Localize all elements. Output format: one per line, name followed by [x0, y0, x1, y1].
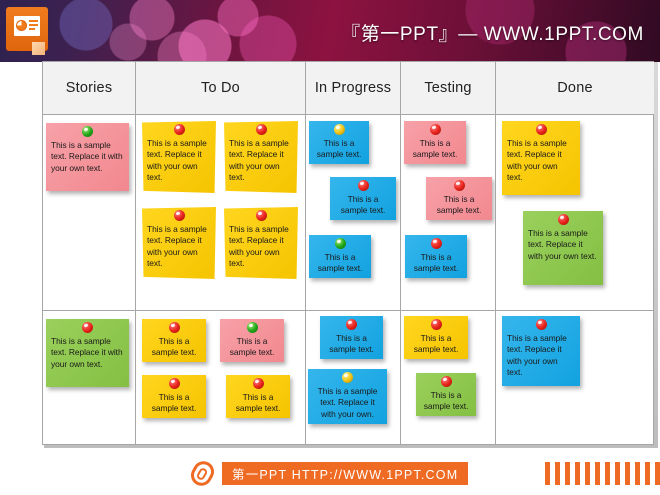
slide-canvas: 『第一PPT』— WWW.1PPT.COM Stories To Do In P… [0, 0, 660, 495]
pushpin-icon [335, 238, 346, 249]
sticky-note[interactable]: This is a sample text. [416, 373, 476, 416]
sticky-note[interactable]: This is a sample text. [142, 319, 206, 362]
sticky-note-text: This is a sample text. [335, 194, 391, 217]
sticky-note[interactable]: This is a sample text. [404, 316, 468, 359]
sticky-note-text: This is a sample text. [225, 336, 279, 359]
sticky-note-text: This is a sample text. [147, 336, 201, 359]
sticky-note-text: This is a sample text. [314, 138, 364, 161]
sticky-note-text: This is a sample text. [314, 252, 366, 275]
pushpin-icon [431, 319, 442, 330]
sticky-note-text: This is a sample text. Replace it with y… [51, 140, 124, 174]
sticky-note-text: This is a sample text. Replace it with y… [147, 138, 211, 184]
column-header-in-progress[interactable]: In Progress [306, 62, 401, 115]
sticky-note-text: This is a sample text. [410, 252, 462, 275]
cell-stories-row1: This is a sample text. Replace it with y… [43, 115, 136, 310]
cell-todo-row2: This is a sample text.This is a sample t… [136, 311, 306, 444]
sticky-note-text: This is a sample text. Replace it with y… [507, 333, 575, 379]
sticky-note[interactable]: This is a sample text. [404, 121, 466, 164]
paperclip-icon [190, 460, 218, 487]
sticky-note-text: This is a sample text. Replace it with y… [229, 224, 293, 270]
cell-stories-row2: This is a sample text. Replace it with y… [43, 311, 136, 444]
cell-testing-row1: This is a sample text.This is a sample t… [401, 115, 496, 310]
pushpin-icon [558, 214, 569, 225]
cell-in-progress-row1: This is a sample text.This is a sample t… [306, 115, 401, 310]
sticky-note[interactable]: This is a sample text. Replace it with y… [502, 121, 580, 195]
sticky-note-text: This is a sample text. [409, 138, 461, 161]
cell-done-row2: This is a sample text. Replace it with y… [496, 311, 654, 444]
sticky-note-text: This is a sample text. Replace it with y… [507, 138, 575, 184]
pushpin-icon [174, 210, 185, 221]
pushpin-icon [174, 124, 185, 135]
cell-testing-row2: This is a sample text.This is a sample t… [401, 311, 496, 444]
board-row: This is a sample text. Replace it with y… [43, 115, 653, 311]
sticky-note-text: This is a sample text. Replace it with y… [313, 386, 382, 420]
sticky-note[interactable]: This is a sample text. [309, 121, 369, 164]
pushpin-icon [536, 319, 547, 330]
sticky-note-text: This is a sample text. Replace it with y… [147, 224, 211, 270]
sticky-note[interactable]: This is a sample text. [405, 235, 467, 278]
sticky-note[interactable]: This is a sample text. [330, 177, 396, 220]
column-header-to-do[interactable]: To Do [136, 62, 306, 115]
column-header-stories[interactable]: Stories [43, 62, 136, 115]
sticky-note[interactable]: This is a sample text. Replace it with y… [46, 123, 129, 191]
sticky-note-text: This is a sample text. Replace it with y… [229, 138, 293, 184]
sticky-note[interactable]: This is a sample text. [142, 375, 206, 418]
kanban-board: Stories To Do In Progress Testing Done T… [42, 61, 654, 445]
sticky-note-text: This is a sample text. Replace it with y… [528, 228, 598, 262]
pushpin-icon [256, 124, 267, 135]
pushpin-icon [253, 378, 264, 389]
pushpin-icon [441, 376, 452, 387]
sticky-note[interactable]: This is a sample text. Replace it with y… [224, 207, 298, 279]
pushpin-icon [256, 210, 267, 221]
pushpin-icon [431, 238, 442, 249]
footer-url-label[interactable]: 第一PPT HTTP://WWW.1PPT.COM [222, 462, 468, 485]
top-banner: 『第一PPT』— WWW.1PPT.COM [0, 0, 660, 62]
pushpin-icon [358, 180, 369, 191]
sticky-note[interactable]: This is a sample text. Replace it with y… [142, 121, 216, 193]
sticky-note[interactable]: This is a sample text. [220, 319, 284, 362]
banner-title: 『第一PPT』— WWW.1PPT.COM [341, 19, 644, 46]
column-header-done[interactable]: Done [496, 62, 654, 115]
sticky-note[interactable]: This is a sample text. Replace it with y… [46, 319, 129, 387]
column-header-testing[interactable]: Testing [401, 62, 496, 115]
cell-done-row1: This is a sample text. Replace it with y… [496, 115, 654, 310]
sticky-note-text: This is a sample text. [325, 333, 378, 356]
pushpin-icon [247, 322, 258, 333]
pushpin-icon [346, 319, 357, 330]
pushpin-icon [454, 180, 465, 191]
sticky-note[interactable]: This is a sample text. [226, 375, 290, 418]
sticky-note[interactable]: This is a sample text. Replace it with y… [523, 211, 603, 285]
cell-todo-row1: This is a sample text. Replace it with y… [136, 115, 306, 310]
board-row: This is a sample text. Replace it with y… [43, 311, 653, 444]
pushpin-icon [169, 378, 180, 389]
sticky-note[interactable]: This is a sample text. [320, 316, 383, 359]
sticky-note-text: This is a sample text. [431, 194, 487, 217]
sticky-note-text: This is a sample text. [409, 333, 463, 356]
pushpin-icon [82, 126, 93, 137]
board-header-row: Stories To Do In Progress Testing Done [43, 62, 653, 115]
pushpin-icon [430, 124, 441, 135]
sticky-note-text: This is a sample text. [231, 392, 285, 415]
footer-bar: 第一PPT HTTP://WWW.1PPT.COM [0, 452, 660, 495]
sticky-note[interactable]: This is a sample text. Replace it with y… [502, 316, 580, 386]
pushpin-icon [82, 322, 93, 333]
footer-stripes [545, 462, 660, 485]
sticky-note[interactable]: This is a sample text. [309, 235, 371, 278]
sticky-note-text: This is a sample text. [147, 392, 201, 415]
sticky-note-text: This is a sample text. [421, 390, 471, 413]
sticky-note[interactable]: This is a sample text. Replace it with y… [308, 369, 387, 424]
pushpin-icon [169, 322, 180, 333]
powerpoint-icon [6, 7, 48, 55]
sticky-note-text: This is a sample text. Replace it with y… [51, 336, 124, 370]
pushpin-icon [334, 124, 345, 135]
sticky-note[interactable]: This is a sample text. Replace it with y… [142, 207, 216, 279]
pushpin-icon [342, 372, 353, 383]
sticky-note[interactable]: This is a sample text. [426, 177, 492, 220]
sticky-note[interactable]: This is a sample text. Replace it with y… [224, 121, 298, 193]
pushpin-icon [536, 124, 547, 135]
cell-in-progress-row2: This is a sample text.This is a sample t… [306, 311, 401, 444]
